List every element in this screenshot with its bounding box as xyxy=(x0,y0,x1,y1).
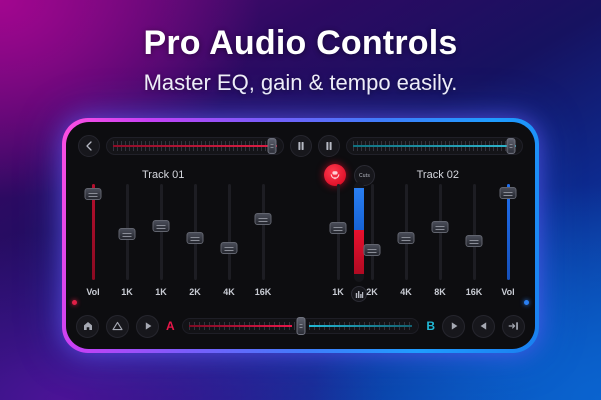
channel-label: 4K xyxy=(223,287,235,297)
crossfader[interactable] xyxy=(182,318,420,334)
fader-handle[interactable] xyxy=(221,242,238,254)
fader-rail xyxy=(262,184,265,280)
triangle-button[interactable] xyxy=(106,315,129,338)
fader-rail xyxy=(371,184,374,280)
fader-handle[interactable] xyxy=(432,221,449,233)
channel-strip[interactable]: Vol xyxy=(76,182,110,297)
play-track-a-button[interactable] xyxy=(136,315,159,338)
fader-handle[interactable] xyxy=(255,213,272,225)
fader-slot[interactable] xyxy=(389,182,423,282)
crossfader-fill-a xyxy=(189,325,293,327)
home-button[interactable] xyxy=(76,315,99,338)
page-title: Pro Audio Controls xyxy=(0,24,601,63)
fader-handle[interactable] xyxy=(398,232,415,244)
fader-slot[interactable] xyxy=(491,182,525,282)
fader-handle[interactable] xyxy=(466,235,483,247)
channel-strip[interactable]: 2K xyxy=(355,182,389,297)
fader-slot[interactable] xyxy=(110,182,144,282)
slider-handle[interactable] xyxy=(507,138,516,154)
hero-banner: Pro Audio Controls Master EQ, gain & tem… xyxy=(0,0,601,96)
fader-rail xyxy=(160,184,163,280)
channel-label: 4K xyxy=(400,287,412,297)
mixer-panel: Vol 1K 1K 2K xyxy=(66,182,535,302)
channel-strip[interactable]: 8K xyxy=(423,182,457,297)
fader-slot[interactable] xyxy=(423,182,457,282)
play-icon xyxy=(449,321,459,331)
channel-strip[interactable]: 16K xyxy=(246,182,280,297)
page-subtitle: Master EQ, gain & tempo easily. xyxy=(0,70,601,96)
home-icon xyxy=(83,321,93,331)
channel-label: 2K xyxy=(366,287,378,297)
audio-mixer-app: Track 01 Cuts Track 02 xyxy=(66,122,535,349)
slider-fill xyxy=(113,145,277,147)
play-left-icon xyxy=(479,321,489,331)
pause-icon xyxy=(297,141,305,151)
deck-b-label: B xyxy=(426,319,435,333)
track-b-gain-slider[interactable] xyxy=(346,137,524,155)
transport-bar: A B xyxy=(66,309,535,343)
deck-a-label: A xyxy=(166,319,175,333)
back-button[interactable] xyxy=(78,135,100,157)
channel-strip[interactable]: 4K xyxy=(389,182,423,297)
play-track-b-button[interactable] xyxy=(442,315,465,338)
fader-slot[interactable] xyxy=(144,182,178,282)
crossfader-handle[interactable] xyxy=(296,317,305,335)
track-b-pause-button[interactable] xyxy=(318,135,340,157)
triangle-up-icon xyxy=(112,321,123,331)
crossfader-fill-b xyxy=(309,325,413,327)
track-a-pause-button[interactable] xyxy=(290,135,312,157)
slider-fill xyxy=(353,145,517,147)
fader-handle[interactable] xyxy=(364,244,381,256)
top-control-bar xyxy=(66,130,535,162)
channel-label: Vol xyxy=(86,287,99,297)
fader-slot[interactable] xyxy=(457,182,491,282)
logout-icon xyxy=(508,321,520,331)
record-mic-icon xyxy=(329,170,341,180)
fader-slot[interactable] xyxy=(178,182,212,282)
rewind-button[interactable] xyxy=(472,315,495,338)
channel-label: 1K xyxy=(155,287,167,297)
fader-slot[interactable] xyxy=(321,182,355,282)
channel-strip[interactable]: 2K xyxy=(178,182,212,297)
channel-label: 1K xyxy=(121,287,133,297)
channel-label: Vol xyxy=(501,287,514,297)
led-indicator-red xyxy=(72,300,77,305)
play-icon xyxy=(143,321,153,331)
channel-strip[interactable]: 1K xyxy=(110,182,144,297)
fader-handle[interactable] xyxy=(330,222,347,234)
fader-slot[interactable] xyxy=(246,182,280,282)
channel-strip[interactable]: Vol xyxy=(491,182,525,297)
fader-slot[interactable] xyxy=(355,182,389,282)
channel-strip[interactable]: 1K xyxy=(144,182,178,297)
cuts-label: Cuts xyxy=(359,173,370,179)
channel-label: 2K xyxy=(189,287,201,297)
chevron-left-icon xyxy=(85,141,93,151)
channel-label: 1K xyxy=(332,287,344,297)
channel-label: 8K xyxy=(434,287,446,297)
led-indicator-blue xyxy=(524,300,529,305)
channel-strip[interactable]: 4K xyxy=(212,182,246,297)
fader-rail xyxy=(473,184,476,280)
track-b-label: Track 02 xyxy=(417,169,459,181)
fader-handle[interactable] xyxy=(119,228,136,240)
fader-handle[interactable] xyxy=(85,188,102,200)
right-channel-bank: 1K 2K 4K 8K xyxy=(321,182,525,297)
fader-slot[interactable] xyxy=(212,182,246,282)
channel-label: 16K xyxy=(255,287,272,297)
slider-handle[interactable] xyxy=(267,138,276,154)
track-a-label: Track 01 xyxy=(142,169,184,181)
fader-rail xyxy=(228,184,231,280)
pause-icon xyxy=(325,141,333,151)
exit-button[interactable] xyxy=(502,315,525,338)
left-channel-bank: Vol 1K 1K 2K xyxy=(76,182,280,297)
fader-handle[interactable] xyxy=(153,220,170,232)
channel-strip[interactable]: 1K xyxy=(321,182,355,297)
fader-handle[interactable] xyxy=(187,232,204,244)
track-a-gain-slider[interactable] xyxy=(106,137,284,155)
fader-handle[interactable] xyxy=(500,187,517,199)
channel-label: 16K xyxy=(466,287,483,297)
fader-slot[interactable] xyxy=(76,182,110,282)
channel-strip[interactable]: 16K xyxy=(457,182,491,297)
device-glow-frame: Track 01 Cuts Track 02 xyxy=(62,118,539,353)
